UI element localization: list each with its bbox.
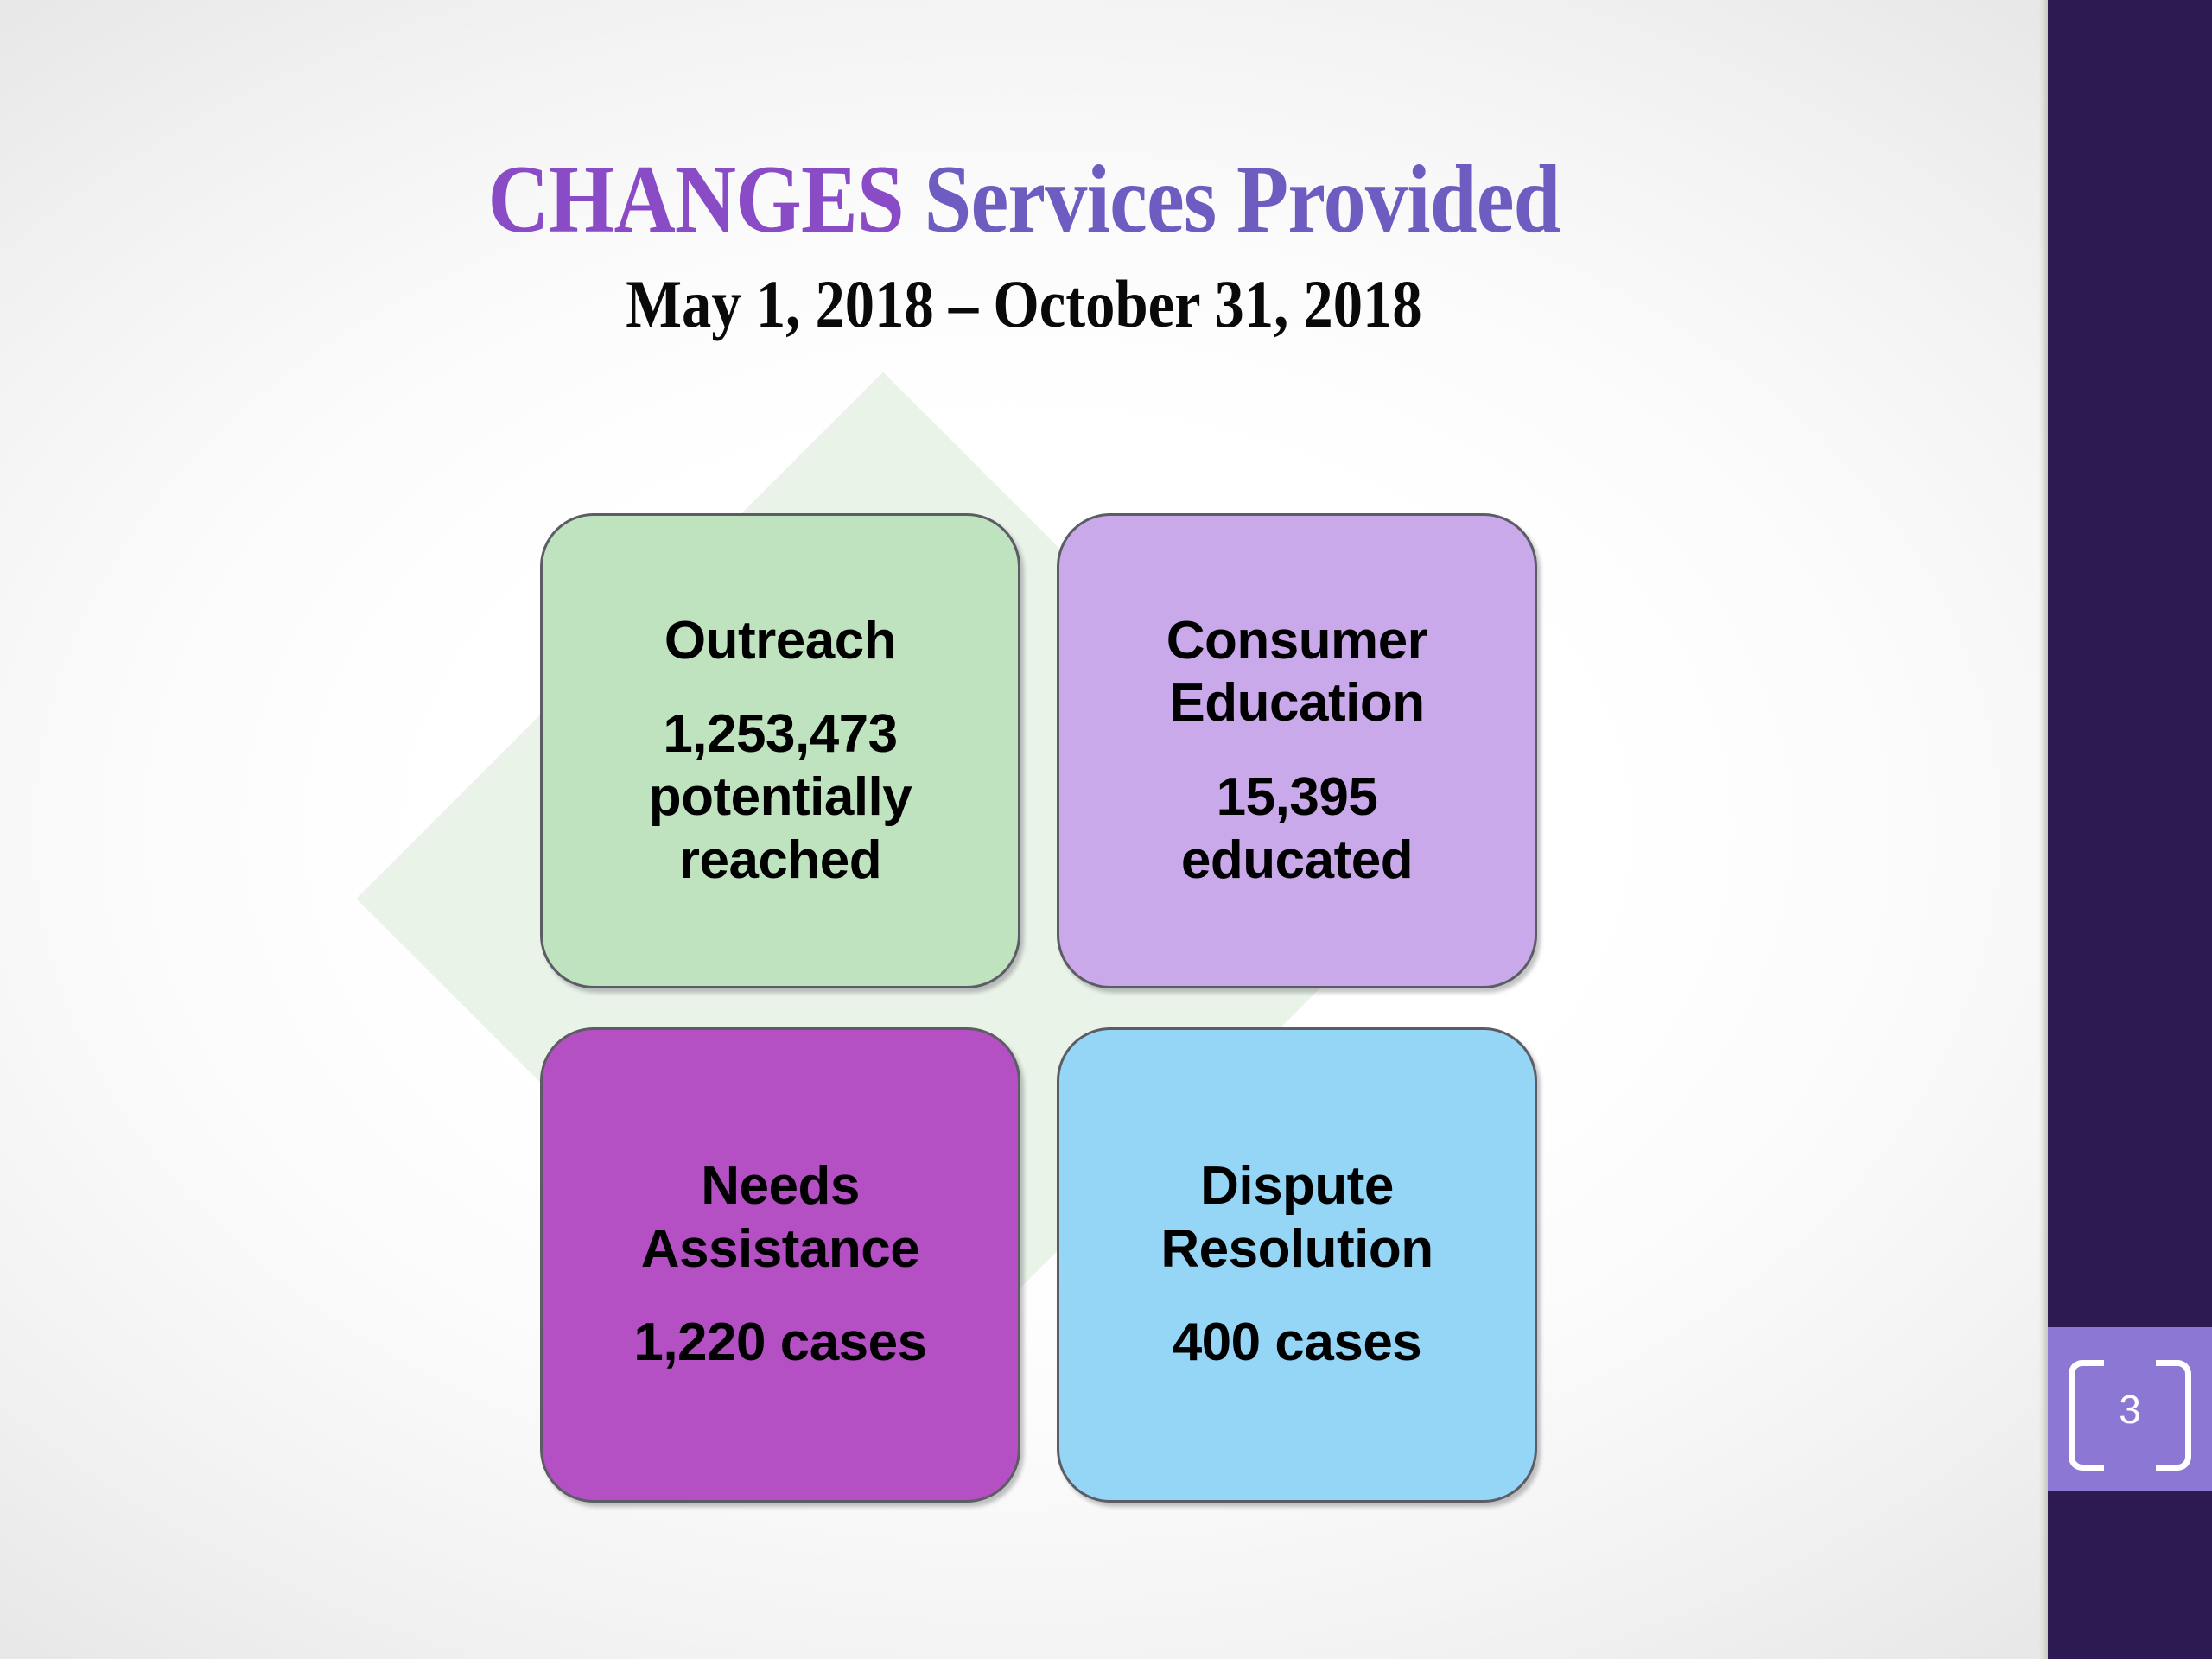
title-highlight-word: CHANGES (488, 146, 904, 253)
card-consumer-education[interactable]: Consumer Education 15,395 educated (1057, 513, 1537, 988)
card-consumer-education-heading-2: Education (1169, 672, 1424, 735)
page-number-badge: 3 (2048, 1327, 2212, 1491)
sidebar: 3 (2048, 0, 2212, 1659)
card-outreach-detail-1: potentially (649, 766, 912, 829)
title-block: CHANGES Services Provided May 1, 2018 – … (0, 151, 2048, 338)
card-dispute-resolution-value: 400 cases (1173, 1312, 1422, 1375)
card-outreach-heading: Outreach (664, 610, 896, 673)
card-outreach-detail-2: reached (679, 829, 881, 893)
sidebar-edge-shadow (2039, 0, 2048, 1659)
card-outreach-value: 1,253,473 (663, 703, 897, 766)
card-dispute-resolution-heading-1: Dispute (1200, 1155, 1394, 1218)
card-dispute-resolution[interactable]: Dispute Resolution 400 cases (1057, 1027, 1537, 1503)
card-needs-assistance[interactable]: Needs Assistance 1,220 cases (540, 1027, 1020, 1503)
services-card-grid: Outreach 1,253,473 potentially reached C… (540, 513, 1542, 1503)
card-needs-assistance-value: 1,220 cases (633, 1312, 926, 1375)
title-remainder: Services Provided (904, 146, 1560, 253)
page-subtitle: May 1, 2018 – October 31, 2018 (123, 270, 1925, 338)
bracket-left-icon (2069, 1360, 2104, 1471)
card-consumer-education-detail: educated (1181, 829, 1413, 893)
card-consumer-education-heading-1: Consumer (1166, 610, 1428, 673)
card-outreach[interactable]: Outreach 1,253,473 potentially reached (540, 513, 1020, 988)
card-needs-assistance-heading-1: Needs (701, 1155, 860, 1218)
card-consumer-education-value: 15,395 (1217, 766, 1378, 829)
bracket-right-icon (2156, 1360, 2191, 1471)
card-dispute-resolution-heading-2: Resolution (1160, 1218, 1433, 1281)
page-number: 3 (2119, 1389, 2141, 1429)
card-needs-assistance-heading-2: Assistance (641, 1218, 919, 1281)
page-title: CHANGES Services Provided (123, 151, 1925, 248)
slide-canvas: CHANGES Services Provided May 1, 2018 – … (0, 0, 2212, 1659)
